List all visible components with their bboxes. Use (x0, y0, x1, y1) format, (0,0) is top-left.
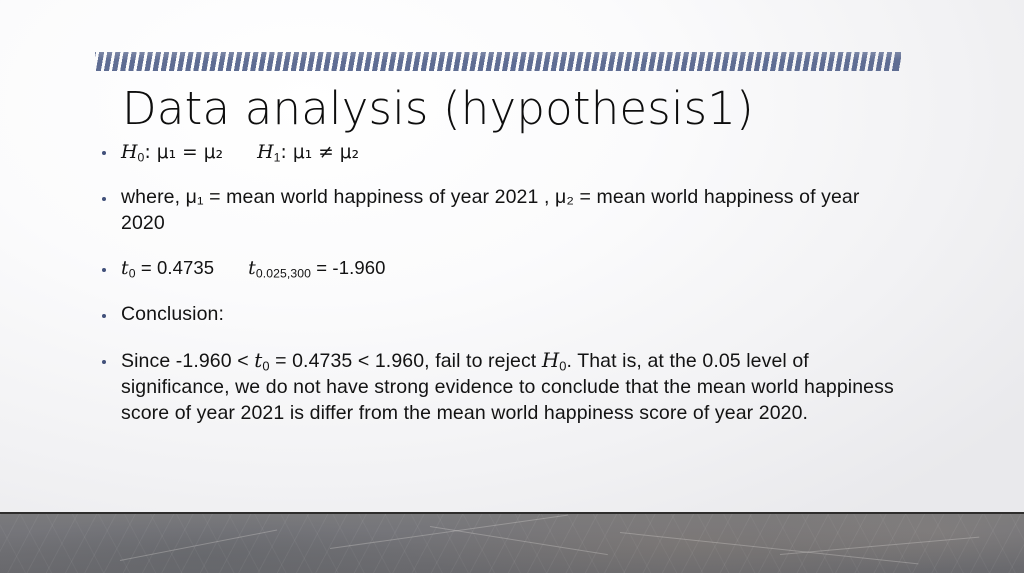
texture-scratch (430, 526, 608, 555)
null-hypothesis-symbol: H (121, 141, 138, 163)
t-statistic-subscript: 0 (129, 267, 136, 281)
critical-value-subscript: 0.025,300 (256, 267, 311, 281)
alt-hypothesis-subscript: 1 (274, 150, 281, 164)
texture-scratch (330, 515, 568, 549)
texture-scratch (120, 529, 277, 561)
t-statistic-value: = 0.4735 (136, 257, 215, 278)
alt-hypothesis-symbol: H (257, 141, 274, 163)
critical-value-symbol: t (248, 257, 256, 279)
texture-scratch (780, 537, 979, 555)
stone-texture-band (0, 512, 1024, 573)
conclusion-t-subscript: 0 (262, 359, 269, 374)
conclusion-h-subscript: 0 (559, 359, 566, 374)
page-title: Data analysis (hypothesis1) (122, 86, 754, 133)
texture-scratch (620, 532, 918, 564)
slide-body: H0: μ₁ = μ₂H1: μ₁ ≠ μ₂ where, μ₁ = mean … (97, 140, 897, 427)
dashed-rule-decoration (95, 52, 901, 71)
conclusion-h-symbol: H (542, 349, 559, 372)
conclusion-lead: Since -1.960 < (121, 350, 254, 372)
conclusion-middle: = 0.4735 < 1.960, fail to reject (270, 350, 542, 372)
critical-value-number: = -1.960 (311, 257, 385, 278)
slide-canvas: Data analysis (hypothesis1) H0: μ₁ = μ₂H… (0, 0, 1024, 573)
bullet-conclusion-text: Since -1.960 < t0 = 0.4735 < 1.960, fail… (97, 348, 897, 427)
bullet-hypotheses: H0: μ₁ = μ₂H1: μ₁ ≠ μ₂ (97, 140, 897, 166)
null-hypothesis-statement: : μ₁ = μ₂ (144, 142, 223, 163)
bullet-where-definitions: where, μ₁ = mean world happiness of year… (97, 185, 897, 237)
bullet-conclusion-label: Conclusion: (97, 302, 897, 328)
t-statistic-symbol: t (121, 257, 129, 279)
bullet-t-statistic: t0 = 0.4735t0.025,300 = -1.960 (97, 256, 897, 282)
alt-hypothesis-statement: : μ₁ ≠ μ₂ (281, 142, 360, 163)
